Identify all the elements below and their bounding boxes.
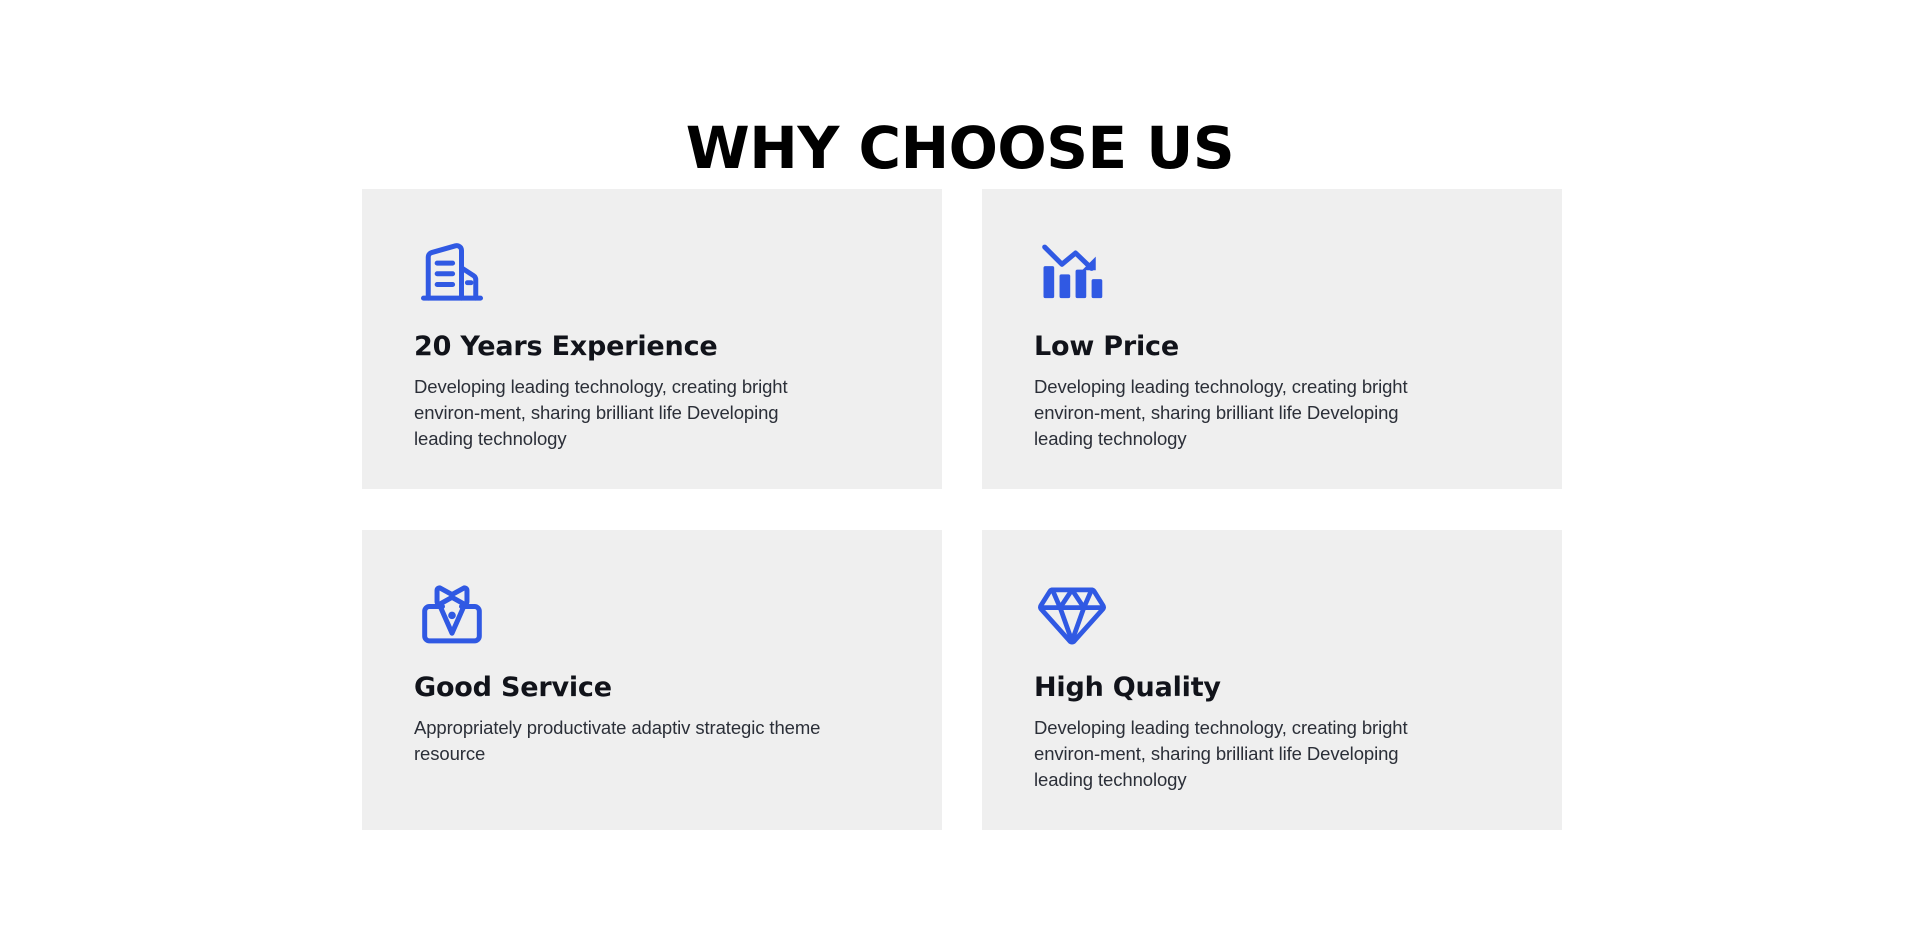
feature-card-high-quality[interactable]: High Quality Developing leading technolo… xyxy=(982,530,1562,830)
feature-card-low-price[interactable]: Low Price Developing leading technology,… xyxy=(982,189,1562,489)
diamond-gem-icon xyxy=(1034,575,1110,651)
card-title: High Quality xyxy=(1034,671,1510,705)
office-building-icon xyxy=(414,234,490,310)
declining-bar-chart-icon xyxy=(1034,234,1110,310)
tuxedo-bowtie-icon xyxy=(414,575,490,651)
feature-card-good-service[interactable]: Good Service Appropriately productivate … xyxy=(362,530,942,830)
card-description: Developing leading technology, creating … xyxy=(414,374,834,452)
feature-card-experience[interactable]: 20 Years Experience Developing leading t… xyxy=(362,189,942,489)
card-description: Developing leading technology, creating … xyxy=(1034,715,1454,793)
feature-card-grid: 20 Years Experience Developing leading t… xyxy=(362,189,1562,830)
why-choose-us-section: WHY CHOOSE US 20 Years Experience xyxy=(0,0,1920,930)
card-title: 20 Years Experience xyxy=(414,330,890,364)
card-title: Low Price xyxy=(1034,330,1510,364)
card-description: Developing leading technology, creating … xyxy=(1034,374,1454,452)
page-title: WHY CHOOSE US xyxy=(0,117,1920,179)
card-description: Appropriately productivate adaptiv strat… xyxy=(414,715,834,767)
card-title: Good Service xyxy=(414,671,890,705)
